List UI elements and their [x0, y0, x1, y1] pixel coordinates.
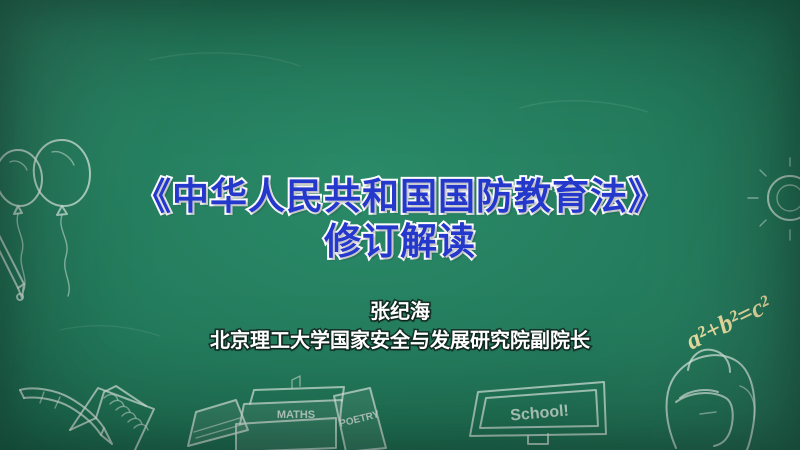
title-line-1: 《中华人民共和国国防教育法》: [134, 176, 666, 217]
slide-content: 《中华人民共和国国防教育法》 修订解读 张纪海 北京理工大学国家安全与发展研究院…: [0, 0, 800, 450]
presenter-block: 张纪海 北京理工大学国家安全与发展研究院副院长: [210, 299, 590, 354]
title-line-2: 修订解读: [134, 221, 666, 262]
presenter-affiliation: 北京理工大学国家安全与发展研究院副院长: [210, 328, 590, 354]
slide-canvas: MATHS POETRY School!: [0, 0, 800, 450]
title-block: 《中华人民共和国国防教育法》 修订解读: [134, 176, 666, 263]
presenter-name: 张纪海: [210, 299, 590, 325]
